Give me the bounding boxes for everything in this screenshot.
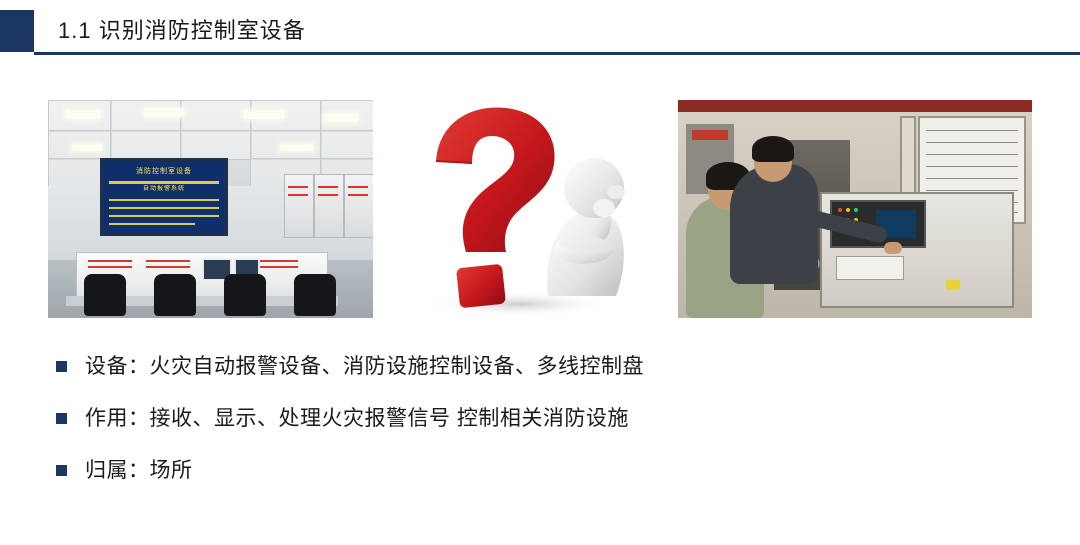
bullet-list: 设备：火灾自动报警设备、消防设施控制设备、多线控制盘 作用：接收、显示、处理火灾…	[56, 352, 1016, 508]
screen-text-line-2: 自动报警系统	[111, 185, 217, 194]
list-item: 作用：接收、显示、处理火灾报警信号 控制相关消防设施	[56, 404, 1016, 434]
technician-right-body	[730, 164, 818, 284]
bullet-square-icon	[56, 413, 67, 424]
fire-control-room-photo: 消防控制室设备 自动报警系统	[48, 100, 373, 318]
bullet-square-icon	[56, 361, 67, 372]
bullet-text-2: 作用：接收、显示、处理火灾报警信号 控制相关消防设施	[85, 404, 629, 434]
screen-text-line-1: 消防控制室设备	[111, 167, 217, 176]
header-divider-rule	[34, 52, 1080, 55]
question-mark-illustration	[398, 100, 678, 318]
technicians-operating-panel-photo	[678, 100, 1032, 318]
red-question-mark	[436, 107, 555, 308]
image-gallery: 消防控制室设备 自动报警系统	[48, 100, 1032, 318]
control-room-display-screen: 消防控制室设备 自动报警系统	[100, 158, 228, 236]
white-thinking-figure	[547, 158, 625, 296]
list-item: 设备：火灾自动报警设备、消防设施控制设备、多线控制盘	[56, 352, 1016, 382]
bullet-text-3: 归属：场所	[85, 456, 193, 486]
bullet-text-1: 设备：火灾自动报警设备、消防设施控制设备、多线控制盘	[85, 352, 644, 382]
slide-header: 1.1 识别消防控制室设备	[0, 0, 1080, 62]
header-accent-block	[0, 10, 34, 52]
list-item: 归属：场所	[56, 456, 1016, 486]
bullet-square-icon	[56, 465, 67, 476]
question-mark-svg	[398, 100, 678, 318]
yellow-sticker	[946, 280, 960, 290]
page-title: 1.1 识别消防控制室设备	[58, 16, 306, 46]
